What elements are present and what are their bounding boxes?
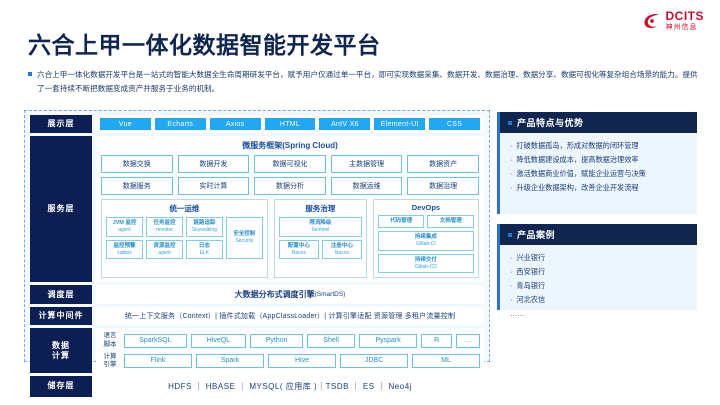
devops-item-cn: 代码管理 <box>380 218 423 225</box>
scheduler-engine: 大数据分布式调度引擎 (SmartDS) <box>96 285 484 304</box>
case-item: · 河北农信 <box>510 293 687 307</box>
feature-text: 降低数据建设成本，提高数据治理效率 <box>516 153 638 167</box>
panel-product-cases: 产品案例 · 兴业银行 · 西安银行 · 青岛银行 · 河北农信 …… <box>497 224 697 310</box>
service-module[interactable]: 数据交换 <box>101 155 173 173</box>
feature-item: · 激活数据商业价值，赋能企业运营与决策 <box>510 167 687 181</box>
service-module[interactable]: 数据资产 <box>407 155 479 173</box>
service-module[interactable]: 数据运维 <box>331 177 403 195</box>
engine-item[interactable]: JDBC <box>340 354 408 368</box>
case-item: · 兴业银行 <box>510 251 687 265</box>
caption-line: 计算 <box>100 353 120 361</box>
devops-item-cn: 文档管理 <box>429 218 472 225</box>
storage-technologies: HDFS ｜ HBASE ｜ MYSQL( 应用库 )｜TSDB ｜ ES ｜ … <box>96 376 484 397</box>
service-module[interactable]: 数据分析 <box>254 177 326 195</box>
cases-list: · 兴业银行 · 西安银行 · 青岛银行 · 河北农信 …… <box>500 245 697 325</box>
case-text: 青岛银行 <box>516 279 545 293</box>
engine-item[interactable]: Flink <box>124 354 192 368</box>
script-item[interactable]: R <box>421 334 452 348</box>
scheduler-engine-text: 大数据分布式调度引擎 <box>235 289 315 300</box>
panel-devops: DevOps 代码管理 文档管理 <box>373 199 479 278</box>
dot-icon: · <box>510 153 512 167</box>
tech-tag[interactable]: HTML <box>265 118 316 130</box>
tech-tag[interactable]: Axios <box>210 118 261 130</box>
case-text: …… <box>510 307 524 321</box>
panel-service-governance: 服务治理 限流降级 Sentinel 配置中心 Nacos <box>274 199 367 278</box>
architecture-diagram: 展示层 Vue Echarts Axios HTML AntV X6 Eleme… <box>24 110 490 362</box>
ops-item-security[interactable]: 安全控制 Security <box>226 217 263 259</box>
case-text: 西安银行 <box>516 265 545 279</box>
features-title: 产品特点与优势 <box>517 116 584 129</box>
layer-compute: 数据 计算 语言 脚本 SparkSQL HiveQL Python <box>30 328 484 373</box>
governance-item-cn: 注册中心 <box>324 243 360 250</box>
bullet-square-icon <box>28 72 32 76</box>
panel-title-ops: 统一运维 <box>106 203 263 214</box>
governance-item-en: Nacos <box>335 250 349 256</box>
script-item[interactable]: Shell <box>307 334 355 348</box>
tech-tag[interactable]: CSS <box>429 118 480 130</box>
microservice-framework-title: 微服务框架(Spring Cloud) <box>101 140 479 151</box>
layer-label-middleware: 计算中间件 <box>30 307 92 325</box>
governance-item-en: Nacos <box>292 250 306 256</box>
page-title: 六合上甲一体化数据智能开发平台 <box>28 26 381 60</box>
panel-title-governance: 服务治理 <box>279 203 362 214</box>
panel-title-devops: DevOps <box>378 203 474 212</box>
bullet-square-icon <box>508 233 512 237</box>
governance-item[interactable]: 限流降级 Sentinel <box>279 217 362 237</box>
layer-label-compute-line1: 数据 <box>52 341 70 351</box>
service-module[interactable]: 实时计算 <box>178 177 250 195</box>
layer-label-compute-line2: 计算 <box>52 351 70 361</box>
features-header: 产品特点与优势 <box>500 112 697 133</box>
ops-item-en: ELK <box>200 250 209 256</box>
service-modules-row-1: 数据交换 数据开发 数据可视化 主数据管理 数据资产 <box>101 155 479 173</box>
engine-item[interactable]: ML <box>412 354 480 368</box>
ops-item-cn: 资源监控 <box>148 243 181 250</box>
page-description: 六合上甲一体化数据开发平台是一站式的智能大数据全生命周期研发平台，赋予用户仅通过… <box>28 68 700 96</box>
script-item-more[interactable]: … <box>456 334 480 348</box>
layer-service: 服务层 微服务框架(Spring Cloud) 数据交换 数据开发 数据可视化 … <box>30 136 484 282</box>
devops-item-cn: 持续交付 <box>380 257 472 264</box>
feature-text: 升级企业数据架构，改善企业开发流程 <box>516 181 638 195</box>
feature-text: 激活数据商业价值，赋能企业运营与决策 <box>516 167 645 181</box>
dot-icon: · <box>510 279 512 293</box>
layer-label-compute: 数据 计算 <box>30 328 92 373</box>
service-module[interactable]: 数据服务 <box>101 177 173 195</box>
dot-icon: · <box>510 139 512 153</box>
compute-caption-engines: 计算 引擎 <box>100 353 120 369</box>
ops-item[interactable]: 日志 ELK <box>186 240 223 260</box>
layer-middleware: 计算中间件 统一上下文服务（Context）| 插件式加载（AppClassLo… <box>30 307 484 325</box>
devops-item[interactable]: 文档管理 <box>427 215 474 228</box>
engine-item[interactable]: Spark <box>196 354 264 368</box>
features-list: · 打破数据孤岛，形成对数据的闭环管理 · 降低数据建设成本，提高数据治理效率 … <box>500 133 697 199</box>
devops-item[interactable]: 代码管理 <box>378 215 425 228</box>
panel-unified-ops: 统一运维 JVM 监控 agent 监控预警 zabbix <box>101 199 268 278</box>
devops-item[interactable]: 持续交付 Gitlab-CD <box>378 254 474 274</box>
script-item[interactable]: HiveQL <box>191 334 246 348</box>
ops-item-cn: 任务监控 <box>148 220 181 227</box>
ops-item-en: agent <box>158 250 171 256</box>
brand-logo: DCITS 神州信息 <box>642 10 705 31</box>
caption-line: 脚本 <box>100 341 120 349</box>
script-item[interactable]: Pyspark <box>359 334 417 348</box>
devops-item-en: Gitlab-CI <box>416 241 436 247</box>
panel-product-features: 产品特点与优势 · 打破数据孤岛，形成对数据的闭环管理 · 降低数据建设成本，提… <box>497 112 697 214</box>
layer-label-storage: 储存层 <box>30 376 92 397</box>
tech-tag[interactable]: AntV X6 <box>319 118 370 130</box>
ops-item-cn: 日志 <box>188 243 221 250</box>
layer-label-service: 服务层 <box>30 136 92 282</box>
dot-icon: · <box>510 167 512 181</box>
feature-item: · 降低数据建设成本，提高数据治理效率 <box>510 153 687 167</box>
presentation-tag-list: Vue Echarts Axios HTML AntV X6 Element-U… <box>96 115 484 133</box>
feature-text: 打破数据孤岛，形成对数据的闭环管理 <box>516 139 638 153</box>
description-text: 六合上甲一体化数据开发平台是一站式的智能大数据全生命周期研发平台，赋予用户仅通过… <box>37 68 700 96</box>
ops-item-cn: 链路追踪 <box>188 220 221 227</box>
tech-tag[interactable]: Vue <box>100 118 151 130</box>
devops-item-cn: 持续集成 <box>380 234 472 241</box>
bullet-square-icon <box>508 121 512 125</box>
case-item: · 青岛银行 <box>510 279 687 293</box>
ops-item-en: monitor <box>156 227 173 233</box>
layer-label-presentation: 展示层 <box>30 115 92 133</box>
service-modules-row-2: 数据服务 实时计算 数据分析 数据运维 数据治理 <box>101 177 479 195</box>
engine-item[interactable]: Hive <box>268 354 336 368</box>
ops-item-en: Skywalking <box>192 227 217 233</box>
tech-tag[interactable]: Element-UI <box>374 118 425 130</box>
compute-scripts-row: 语言 脚本 SparkSQL HiveQL Python Shell Pyspa… <box>100 332 480 348</box>
case-text: 兴业银行 <box>516 251 545 265</box>
ops-item-cn: 安全控制 <box>233 231 255 238</box>
scheduler-engine-sub: (SmartDS) <box>315 291 346 298</box>
ops-item-cn: JVM 监控 <box>108 220 141 227</box>
service-module[interactable]: 数据可视化 <box>254 155 326 173</box>
slide-root: DCITS 神州信息 六合上甲一体化数据智能开发平台 六合上甲一体化数据开发平台… <box>0 0 720 405</box>
tech-tag[interactable]: Echarts <box>155 118 206 130</box>
case-item-more: …… <box>510 307 687 321</box>
ops-item[interactable]: 资源监控 agent <box>146 240 183 260</box>
governance-item[interactable]: 注册中心 Nacos <box>322 240 362 260</box>
cases-header: 产品案例 <box>500 224 697 245</box>
middleware-capabilities: 统一上下文服务（Context）| 插件式加载（AppClassLoader）|… <box>96 307 484 325</box>
devops-item-en: Gitlab-CD <box>415 264 437 270</box>
case-item: · 西安银行 <box>510 265 687 279</box>
dot-icon: · <box>510 181 512 195</box>
dot-icon: · <box>510 265 512 279</box>
brand-sub: 神州信息 <box>666 24 705 31</box>
compute-engines-row: 计算 引擎 Flink Spark Hive JDBC ML <box>100 353 480 369</box>
brand-name: DCITS <box>666 10 705 22</box>
layer-storage: 储存层 HDFS ｜ HBASE ｜ MYSQL( 应用库 )｜TSDB ｜ E… <box>30 376 484 397</box>
ops-item-en: zabbix <box>117 250 131 256</box>
ops-item-en: Security <box>235 238 253 244</box>
ops-item[interactable]: 链路追踪 Skywalking <box>186 217 223 237</box>
devops-item[interactable]: 持续集成 Gitlab-CI <box>378 231 474 251</box>
governance-item-cn: 限流降级 <box>281 220 360 227</box>
cases-title: 产品案例 <box>517 228 555 241</box>
case-text: 河北农信 <box>516 293 545 307</box>
dot-icon: · <box>510 251 512 265</box>
swirl-logo-icon <box>642 11 662 31</box>
governance-item[interactable]: 配置中心 Nacos <box>279 240 319 260</box>
governance-item-en: Sentinel <box>311 227 329 233</box>
service-module[interactable]: 数据治理 <box>407 177 479 195</box>
ops-item-cn: 监控预警 <box>108 243 141 250</box>
script-item[interactable]: SparkSQL <box>124 334 187 348</box>
dot-icon: · <box>510 293 512 307</box>
ops-item-en: agent <box>118 227 131 233</box>
layer-label-scheduler: 调度层 <box>30 285 92 304</box>
compute-caption-scripts: 语言 脚本 <box>100 332 120 348</box>
caption-line: 引擎 <box>100 361 120 369</box>
layer-scheduler: 调度层 大数据分布式调度引擎 (SmartDS) <box>30 285 484 304</box>
ops-item[interactable]: JVM 监控 agent <box>106 217 143 237</box>
service-module[interactable]: 数据开发 <box>178 155 250 173</box>
caption-line: 语言 <box>100 332 120 340</box>
feature-item: · 升级企业数据架构，改善企业开发流程 <box>510 181 687 195</box>
layer-presentation: 展示层 Vue Echarts Axios HTML AntV X6 Eleme… <box>30 115 484 133</box>
feature-item: · 打破数据孤岛，形成对数据的闭环管理 <box>510 139 687 153</box>
ops-item[interactable]: 监控预警 zabbix <box>106 240 143 260</box>
service-module[interactable]: 主数据管理 <box>331 155 403 173</box>
script-item[interactable]: Python <box>250 334 303 348</box>
governance-item-cn: 配置中心 <box>281 243 317 250</box>
ops-item[interactable]: 任务监控 monitor <box>146 217 183 237</box>
